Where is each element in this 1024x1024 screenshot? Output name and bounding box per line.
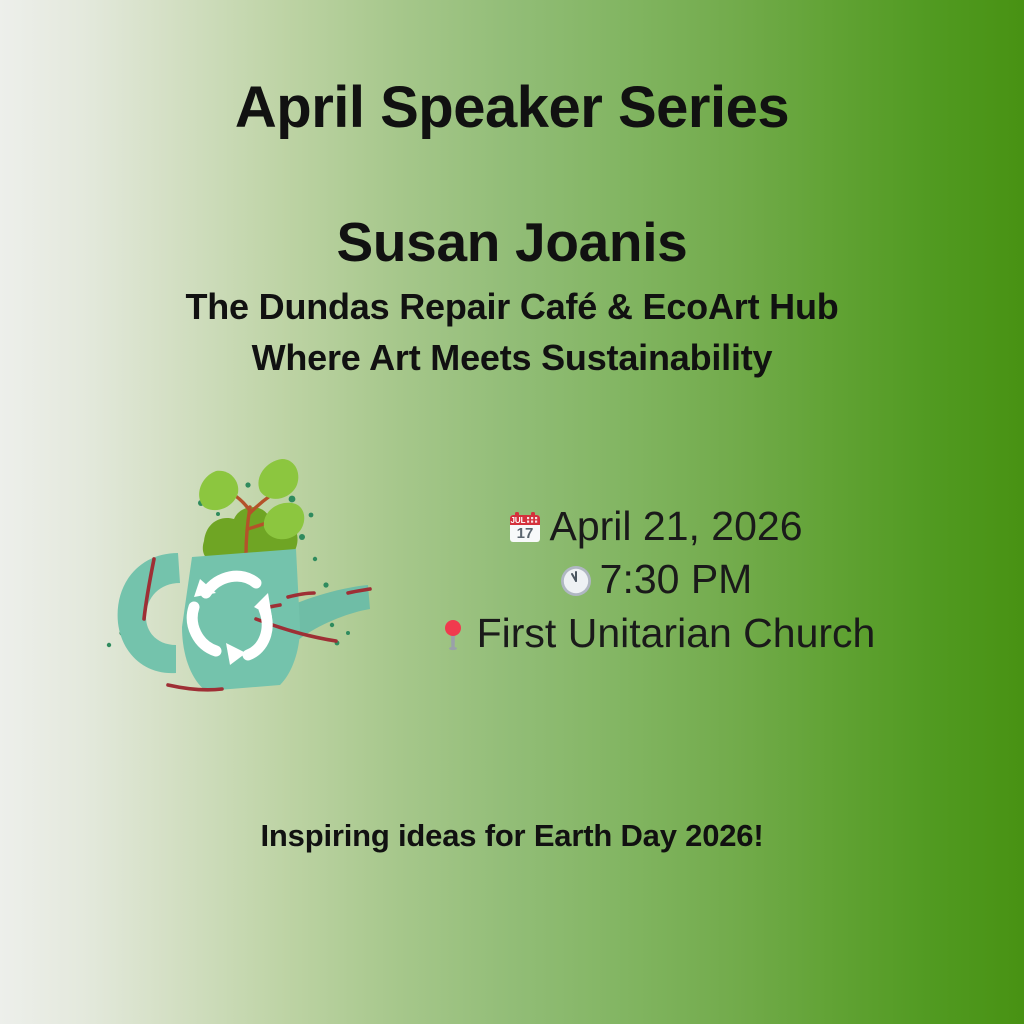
speaker-name: Susan Joanis (0, 212, 1024, 273)
calendar-icon: JUL 17 (507, 510, 543, 546)
watering-can-handle-icon (118, 553, 180, 673)
talk-title: The Dundas Repair Café & EcoArt Hub (0, 281, 1024, 332)
svg-text:JUL: JUL (511, 516, 526, 525)
watering-can-body-icon (182, 549, 300, 691)
footer-block: Inspiring ideas for Earth Day 2026! (0, 818, 1024, 854)
clock-icon (558, 563, 594, 599)
event-date-text: April 21, 2026 (549, 503, 802, 549)
headline-block: April Speaker Series (0, 78, 1024, 139)
event-date-row: JUL 17 April 21, 2026 (410, 500, 900, 553)
event-details: JUL 17 April 21, 2026 (410, 500, 900, 660)
page-title: April Speaker Series (0, 78, 1024, 139)
talk-subtitle: Where Art Meets Sustainability (0, 332, 1024, 383)
event-location-row: First Unitarian Church (410, 607, 900, 660)
svg-text:17: 17 (517, 525, 534, 542)
watering-can-illustration (96, 437, 386, 707)
location-pin-icon (435, 617, 471, 653)
event-location-text: First Unitarian Church (477, 610, 876, 656)
footer-tagline: Inspiring ideas for Earth Day 2026! (261, 818, 764, 853)
event-time-row: 7:30 PM (410, 553, 900, 606)
poster-canvas: April Speaker Series Susan Joanis The Du… (0, 0, 1024, 1024)
speaker-block: Susan Joanis The Dundas Repair Café & Ec… (0, 212, 1024, 383)
event-time-text: 7:30 PM (600, 556, 753, 602)
